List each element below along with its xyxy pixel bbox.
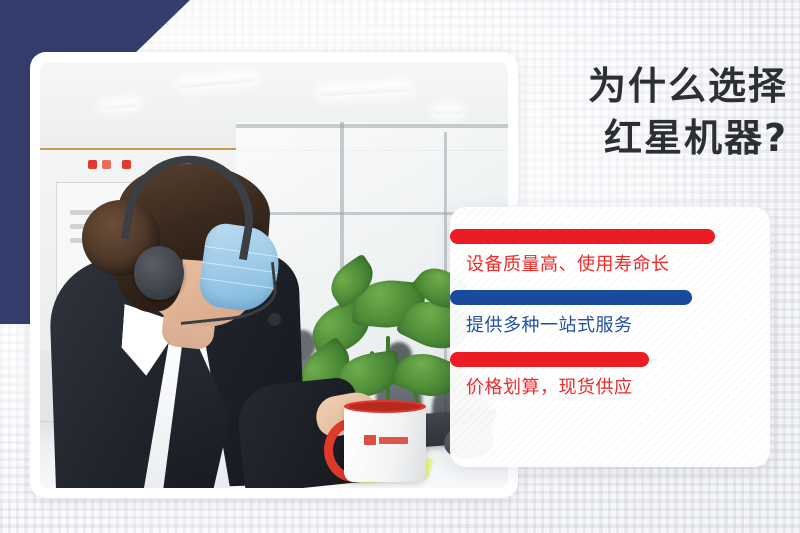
ceiling-light-icon [180, 75, 254, 88]
headset-microphone [268, 313, 281, 326]
headline: 为什么选择 红星机器? [552, 60, 788, 165]
feature-label: 设备质量高、使用寿命长 [450, 253, 770, 276]
customer-service-agent [52, 128, 352, 488]
feature-label: 价格划算，现货供应 [450, 376, 770, 399]
ceiling-light-icon [435, 108, 461, 114]
banner-stage: 为什么选择 红星机器? 设备质量高、使用寿命长 提供多种一站式服务 价格划算，现… [0, 0, 800, 533]
ceiling-light-icon [320, 84, 410, 97]
list-item: 价格划算，现货供应 [450, 352, 770, 399]
photo-image [40, 62, 508, 488]
features-card: 设备质量高、使用寿命长 提供多种一站式服务 价格划算，现货供应 [450, 207, 770, 467]
list-item: 设备质量高、使用寿命长 [450, 229, 770, 276]
feature-label: 提供多种一站式服务 [450, 314, 770, 337]
headline-line-1: 为什么选择 [552, 60, 788, 112]
feature-bar [450, 290, 692, 305]
feature-bar [450, 229, 715, 244]
features-list: 设备质量高、使用寿命长 提供多种一站式服务 价格划算，现货供应 [450, 207, 770, 399]
ceiling-light-icon [102, 100, 138, 110]
headline-line-2: 红星机器? [552, 112, 788, 164]
branded-mug [330, 392, 434, 484]
photo-card [30, 52, 518, 498]
list-item: 提供多种一站式服务 [450, 290, 770, 337]
mug-brand-logo [364, 434, 408, 446]
feature-bar [450, 352, 649, 367]
mug-inner [349, 402, 421, 411]
